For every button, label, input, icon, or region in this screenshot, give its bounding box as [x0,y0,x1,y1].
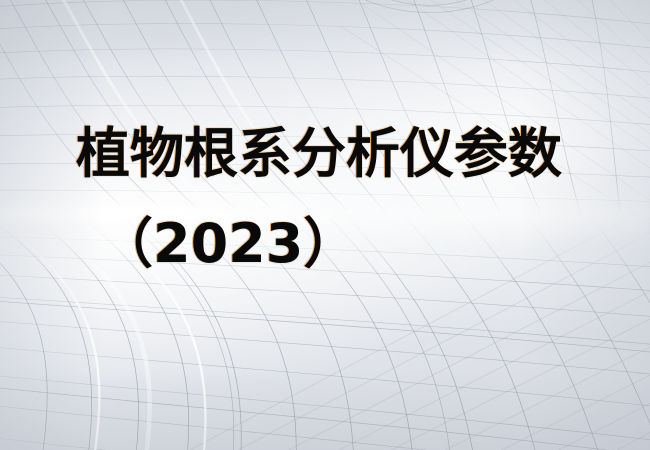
title-slide: 植物根系分析仪参数 （2023） [0,0,650,450]
background-light-streak [0,196,507,232]
